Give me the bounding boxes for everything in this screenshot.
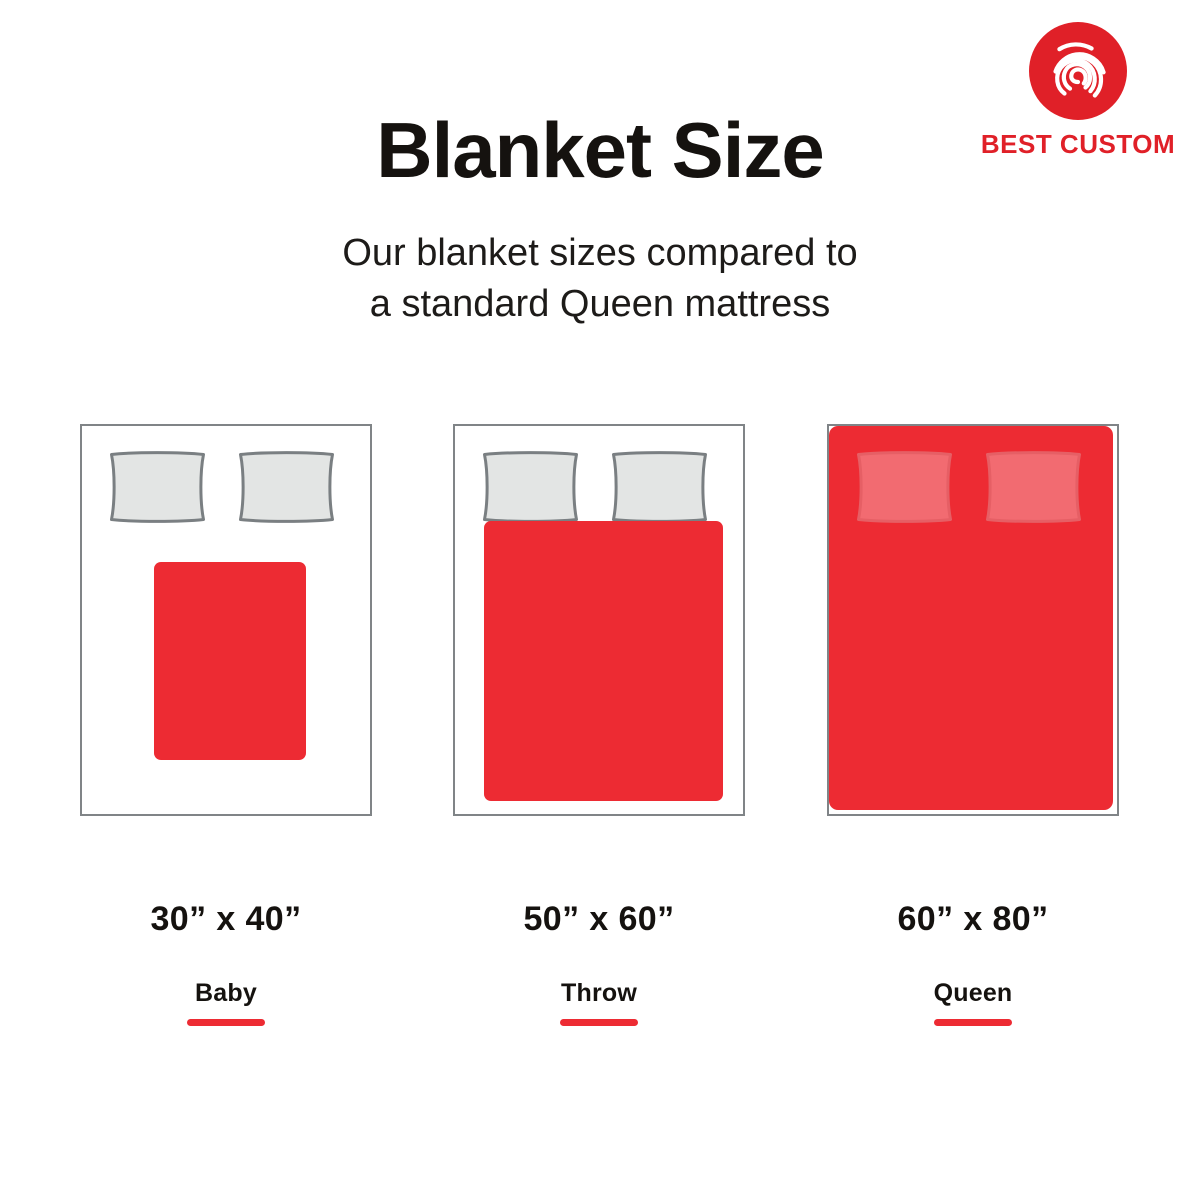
bed-diagram-queen [827, 424, 1119, 816]
size-dimensions: 30” x 40” [80, 900, 372, 939]
pillow-icon [608, 450, 711, 524]
accent-underline [934, 1019, 1012, 1026]
caption-throw: 50” x 60” Throw [453, 900, 745, 1026]
caption-group: 30” x 40” Baby 50” x 60” Throw 60” x 80”… [0, 900, 1200, 1040]
size-name: Throw [453, 979, 745, 1008]
bed-diagram-group [0, 424, 1200, 816]
page-title: Blanket Size [0, 105, 1200, 196]
pillow-under-blanket-icon [982, 450, 1085, 524]
pillow-under-blanket-icon [853, 450, 956, 524]
bed-diagram-baby [80, 424, 372, 816]
size-dimensions: 50” x 60” [453, 900, 745, 939]
size-dimensions: 60” x 80” [827, 900, 1119, 939]
bed-diagram-throw [453, 424, 745, 816]
subtitle-line-2: a standard Queen mattress [0, 279, 1200, 330]
size-name: Queen [827, 979, 1119, 1008]
caption-baby: 30” x 40” Baby [80, 900, 372, 1026]
blanket-overlay-baby [154, 562, 306, 760]
subtitle-line-1: Our blanket sizes compared to [0, 228, 1200, 279]
size-name: Baby [80, 979, 372, 1008]
blanket-overlay-throw [484, 521, 723, 801]
page-subtitle: Our blanket sizes compared to a standard… [0, 228, 1200, 329]
pillow-icon [106, 450, 209, 524]
accent-underline [187, 1019, 265, 1026]
blanket-size-infographic: BEST CUSTOM Blanket Size Our blanket siz… [0, 0, 1200, 1200]
accent-underline [560, 1019, 638, 1026]
caption-queen: 60” x 80” Queen [827, 900, 1119, 1026]
pillow-icon [479, 450, 582, 524]
pillow-icon [235, 450, 338, 524]
